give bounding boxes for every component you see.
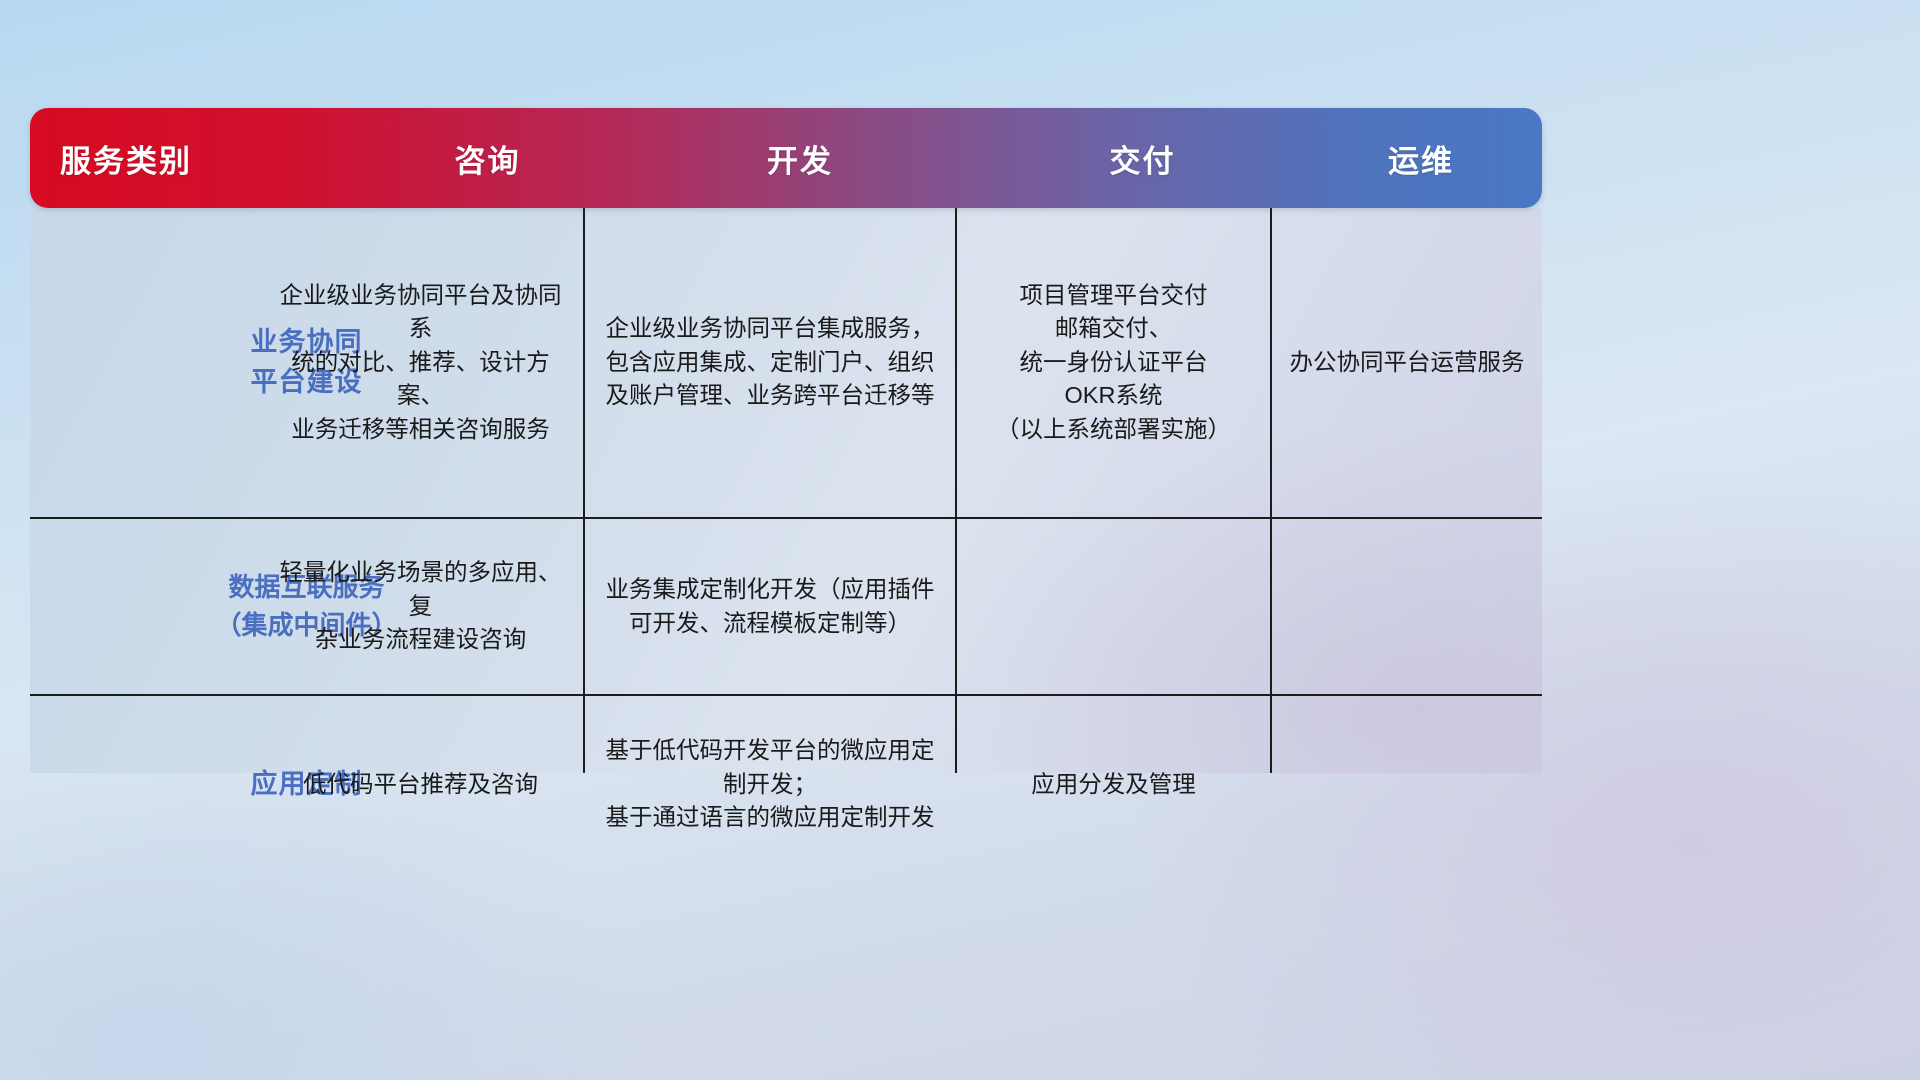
column-header-delivery: 交付	[985, 108, 1300, 208]
column-header-development: 开发	[615, 108, 985, 208]
cell-r2-delivery	[957, 519, 1270, 694]
cell-r1-consulting: 企业级业务协同平台及协同系 统的对比、推荐、设计方案、 业务迁移等相关咨询服务	[258, 208, 583, 517]
cell-r3-delivery: 应用分发及管理	[957, 696, 1270, 873]
cell-r1-development: 企业级业务协同平台集成服务， 包含应用集成、定制门户、组织 及账户管理、业务跨平…	[585, 208, 955, 517]
cell-r1-operations: 办公协同平台运营服务	[1272, 208, 1542, 517]
cell-r2-development: 业务集成定制化开发（应用插件 可开发、流程模板定制等）	[585, 519, 955, 694]
cell-r2-operations	[1272, 519, 1542, 694]
column-header-category: 服务类别	[30, 108, 360, 208]
cell-r1-delivery: 项目管理平台交付 邮箱交付、 统一身份认证平台 OKR系统 （以上系统部署实施）	[957, 208, 1270, 517]
cell-r3-consulting: 低代码平台推荐及咨询	[258, 696, 583, 873]
cell-r3-operations	[1272, 696, 1542, 873]
service-matrix-table: 服务类别 咨询 开发 交付 运维 业务协同 平台建设 企业级业务协同平台及协同系…	[30, 108, 1542, 773]
slide-canvas: 服务类别 咨询 开发 交付 运维 业务协同 平台建设 企业级业务协同平台及协同系…	[0, 0, 1920, 1080]
cell-r3-development: 基于低代码开发平台的微应用定 制开发； 基于通过语言的微应用定制开发	[585, 696, 955, 873]
column-header-consulting: 咨询	[360, 108, 615, 208]
table-header-row: 服务类别 咨询 开发 交付 运维	[30, 108, 1542, 208]
column-header-operations: 运维	[1300, 108, 1542, 208]
cell-r2-consulting: 轻量化业务场景的多应用、复 杂业务流程建设咨询	[258, 519, 583, 694]
